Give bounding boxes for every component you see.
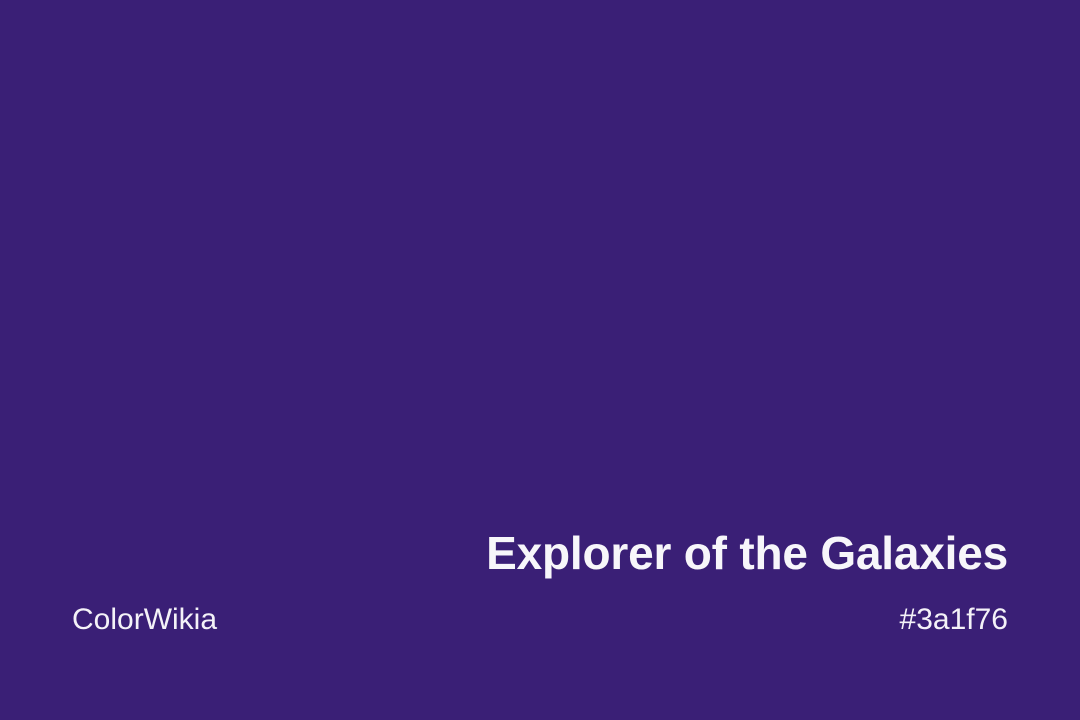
- color-name-title: Explorer of the Galaxies: [72, 530, 1008, 576]
- hex-code-value: #3a1f76: [900, 605, 1008, 635]
- card-meta-row: ColorWikia #3a1f76: [72, 605, 1008, 635]
- color-swatch-card: Explorer of the Galaxies ColorWikia #3a1…: [0, 0, 1080, 720]
- brand-label: ColorWikia: [72, 605, 217, 635]
